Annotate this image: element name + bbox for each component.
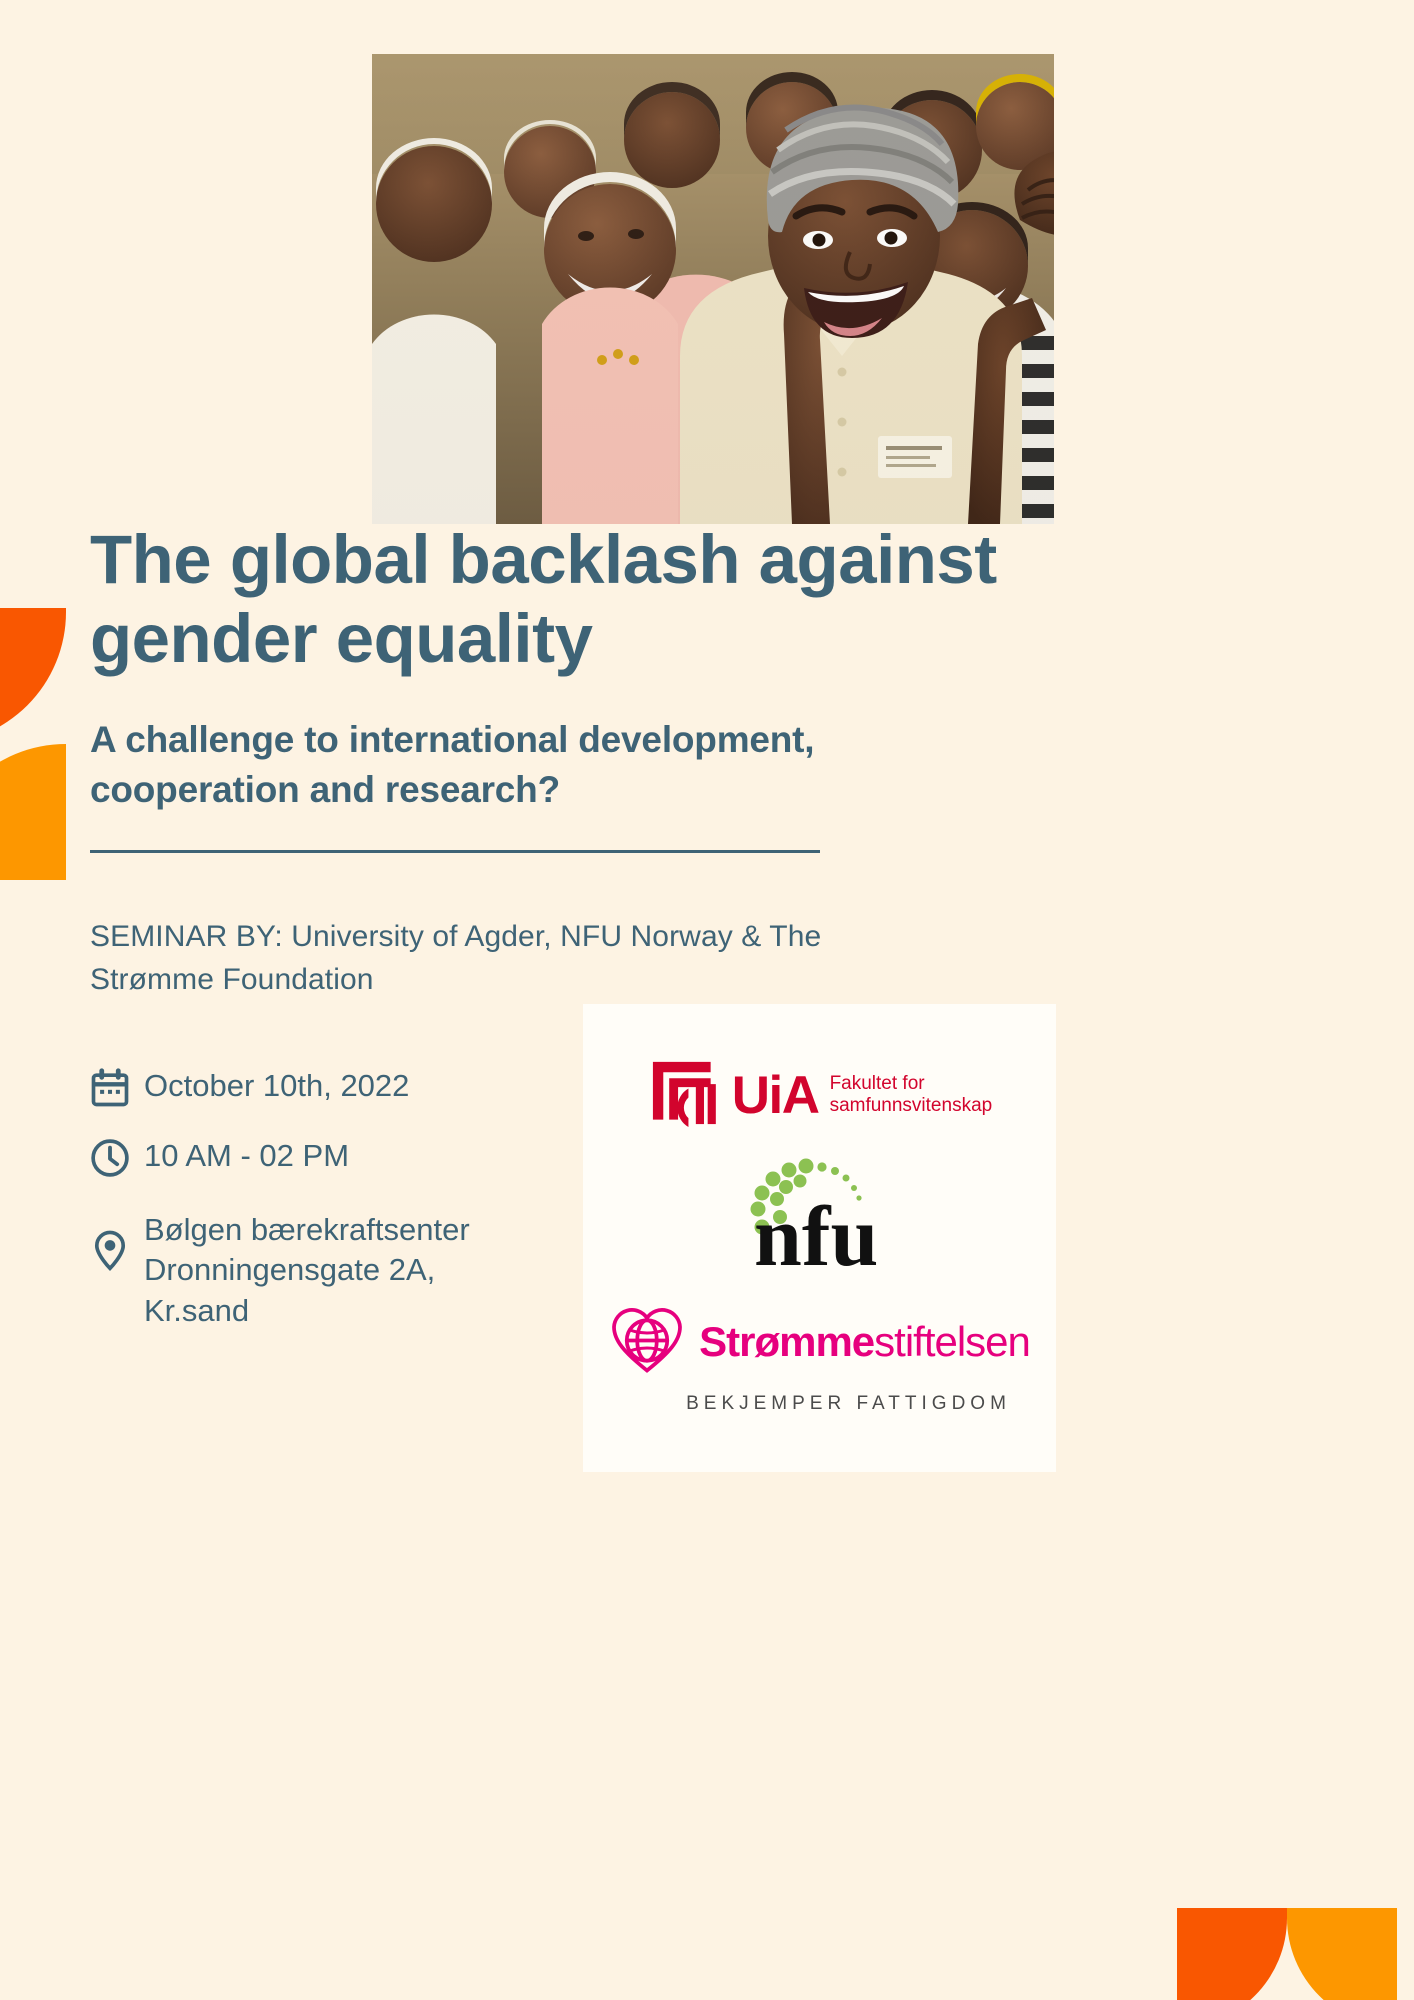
horizontal-divider — [90, 850, 820, 853]
page-subtitle: A challenge to international development… — [90, 715, 1020, 814]
decorative-quarter-circle-left-light — [0, 744, 66, 880]
detail-date-label: October 10th, 2022 — [144, 1064, 409, 1106]
event-details-list: October 10th, 2022 10 AM - 02 PM Bølgen … — [88, 1064, 558, 1355]
stromme-heart-globe-icon — [609, 1303, 685, 1380]
uia-logo-mark — [647, 1056, 721, 1135]
svg-text:nfu: nfu — [754, 1188, 878, 1273]
uia-wordmark: UiA — [732, 1069, 819, 1122]
sponsor-logo-card: UiA Fakultet for samfunnsvitenskap — [583, 1004, 1056, 1472]
detail-location-label: Bølgen bærekraftsenter Dronningensgate 2… — [144, 1208, 470, 1331]
uia-faculty-label: Fakultet for samfunnsvitenskap — [830, 1073, 993, 1116]
stromme-wordmark-bold: Strømme — [699, 1318, 874, 1365]
seminar-by-text: SEMINAR BY: University of Agder, NFU Nor… — [90, 916, 880, 1001]
detail-row-time: 10 AM - 02 PM — [88, 1134, 558, 1180]
uia-logo-mark-glyph — [647, 1056, 721, 1130]
decorative-quarter-circle-bottom-light — [1287, 1908, 1397, 2000]
detail-row-location: Bølgen bærekraftsenter Dronningensgate 2… — [88, 1208, 558, 1331]
poster-canvas: The global backlash against gender equal… — [0, 0, 1414, 2000]
stromme-tagline: BEKJEMPER FATTIGDOM — [628, 1393, 1011, 1415]
detail-time-label: 10 AM - 02 PM — [144, 1134, 349, 1176]
uia-logo: UiA Fakultet for samfunnsvitenskap — [583, 1052, 1056, 1138]
decorative-quarter-circle-left-dark — [0, 608, 66, 744]
nfu-logo-mark-glyph: nfu — [736, 1155, 904, 1273]
stromme-wordmark-light: stiftelsen — [874, 1318, 1030, 1365]
map-pin-icon — [88, 1208, 144, 1272]
page-title: The global backlash against gender equal… — [90, 521, 1000, 678]
stromme-wordmark: Strømmestiftelsen — [699, 1321, 1030, 1363]
stromme-heart-globe-glyph — [609, 1303, 685, 1375]
detail-row-date: October 10th, 2022 — [88, 1064, 558, 1110]
decorative-quarter-circle-bottom-dark — [1177, 1908, 1287, 2000]
nfu-logo: nfu — [583, 1156, 1056, 1276]
stromme-logo: Strømmestiftelsen BEKJEMPER FATTIGDOM — [583, 1294, 1056, 1424]
clock-icon — [88, 1134, 144, 1180]
hero-photo-illustration — [372, 54, 1054, 524]
hero-photo — [372, 54, 1054, 524]
nfu-logo-mark: nfu — [736, 1155, 904, 1278]
calendar-icon — [88, 1064, 144, 1110]
